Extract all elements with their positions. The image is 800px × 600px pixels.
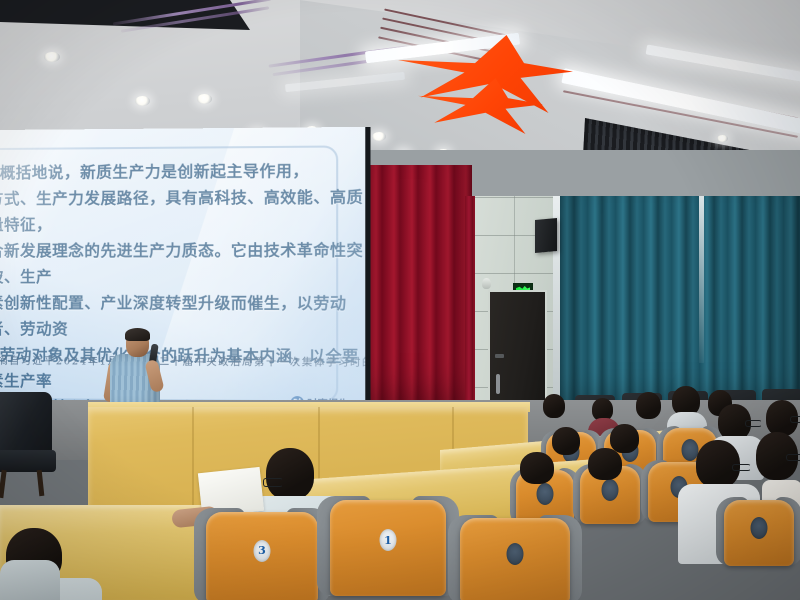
office-chair: [0, 392, 65, 492]
podium-fold: [192, 407, 194, 517]
downlight-icon: [135, 96, 150, 106]
seat-number-badge: [537, 483, 554, 505]
auditorium-seat[interactable]: [724, 500, 794, 566]
chair-seat: [0, 450, 56, 472]
auditorium-seat-front-right[interactable]: 3: [206, 512, 318, 600]
emergency-light-icon: [482, 278, 491, 289]
door-handle-icon: [496, 374, 500, 394]
projection-screen: 概括地说，新质生产力是创新起主导作用， 方式、生产力发展路径，具有高科技、高效能…: [0, 127, 370, 423]
chair-leg: [0, 470, 7, 498]
auditorium-seat-front-far[interactable]: [460, 518, 570, 600]
seat-number-badge: [602, 479, 619, 501]
downlight-icon: [44, 52, 60, 62]
downlight-icon: [717, 135, 728, 142]
door-lock-icon: [495, 354, 504, 358]
auditorium-seat-front-center[interactable]: 1: [330, 500, 446, 596]
downlight-icon: [197, 94, 212, 104]
presenter-hair: [125, 328, 150, 341]
chair-back: [0, 392, 52, 454]
wall-speaker-icon: [535, 218, 557, 253]
seat-number-badge: 3: [254, 540, 271, 562]
lecture-hall-photo: 概括地说，新质生产力是创新起主导作用， 方式、生产力发展路径，具有高科技、高效能…: [0, 0, 800, 600]
seat-number-badge: 1: [380, 529, 397, 551]
seat-number-badge: [507, 543, 524, 565]
seat-number-badge: [751, 517, 768, 539]
red-stage-curtain-edge: [465, 196, 475, 426]
slide-source-attribution: —摘自习近平2024年1月31日在二十届中央政治局第十一次集体学习时的讲话: [0, 352, 370, 369]
slide-body-text: 概括地说，新质生产力是创新起主导作用， 方式、生产力发展路径，具有高科技、高效能…: [0, 158, 367, 424]
downlight-icon: [372, 132, 386, 141]
chair-leg: [37, 470, 45, 496]
